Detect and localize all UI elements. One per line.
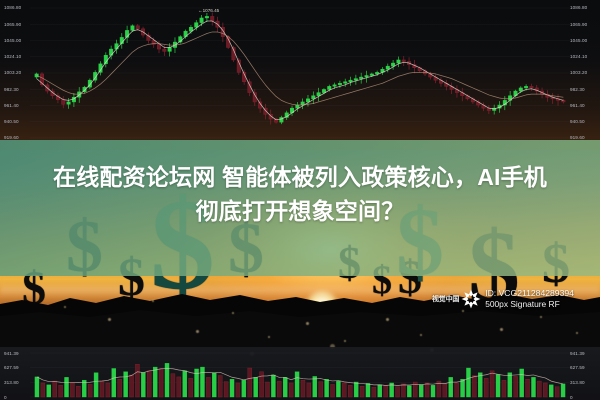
y-axis-tick-label: 1045.00 xyxy=(570,38,587,43)
vcg-watermark: 视觉中国 ID: VCG211284289394 500px Signature… xyxy=(432,282,596,316)
y-axis-tick-label: 961.40 xyxy=(570,103,585,108)
price-candlestick-chart: 1086.801086.801065.901065.901045.001045.… xyxy=(0,0,600,150)
y-axis-tick-label: 1086.80 xyxy=(570,5,587,10)
y-axis-tick-label: 940.50 xyxy=(4,119,19,124)
page-title: 在线配资论坛网 智能体被列入政策核心，AI手机 彻底打开想象空间？ xyxy=(0,160,600,228)
vcg-license-label: 500px Signature RF xyxy=(485,299,574,310)
volume-chart-canvas xyxy=(0,347,600,400)
y-axis-tick-label: 1024.10 xyxy=(4,54,21,59)
vcg-image-id: ID: VCG211284289394 xyxy=(485,288,574,299)
y-axis-tick-label: 1003.20 xyxy=(4,70,21,75)
volume-chart: 941.39941.39627.59627.59313.80313.8000 xyxy=(0,347,600,400)
y-axis-tick-label: 982.30 xyxy=(570,87,585,92)
y-axis-tick-label: 1003.20 xyxy=(570,70,587,75)
y-axis-tick-label: 940.50 xyxy=(570,119,585,124)
y-axis-tick-label: 1065.90 xyxy=(4,22,21,27)
volume-tick-label: 941.39 xyxy=(4,351,19,356)
vcg-sunburst-icon xyxy=(460,288,482,310)
volume-tick-label: 627.59 xyxy=(4,365,19,370)
headline-line-1: 在线配资论坛网 智能体被列入政策核心，AI手机 xyxy=(0,160,600,194)
y-axis-tick-label: 1045.00 xyxy=(4,38,21,43)
y-axis-tick-label: 1086.80 xyxy=(4,5,21,10)
price-chart-canvas xyxy=(0,0,600,150)
volume-tick-label: 627.59 xyxy=(570,365,585,370)
price-peak-annotation: ←1076.45 xyxy=(198,8,219,13)
y-axis-tick-label: 961.40 xyxy=(4,103,19,108)
volume-tick-label: 313.80 xyxy=(570,380,585,385)
vcg-brand-label: 视觉中国 xyxy=(432,294,459,304)
y-axis-tick-label: 1024.10 xyxy=(570,54,587,59)
article-cover-image: $ $ $ $ $ $ $ $ $ $ $ xyxy=(0,0,600,400)
volume-tick-label: 313.80 xyxy=(4,380,19,385)
vcg-watermark-text: ID: VCG211284289394 500px Signature RF xyxy=(485,288,574,310)
volume-tick-label: 0 xyxy=(4,395,7,400)
y-axis-tick-label: 1065.90 xyxy=(570,22,587,27)
y-axis-tick-label: 982.30 xyxy=(4,87,19,92)
volume-tick-label: 0 xyxy=(570,395,573,400)
volume-tick-label: 941.39 xyxy=(570,351,585,356)
headline-line-2: 彻底打开想象空间？ xyxy=(0,194,600,228)
